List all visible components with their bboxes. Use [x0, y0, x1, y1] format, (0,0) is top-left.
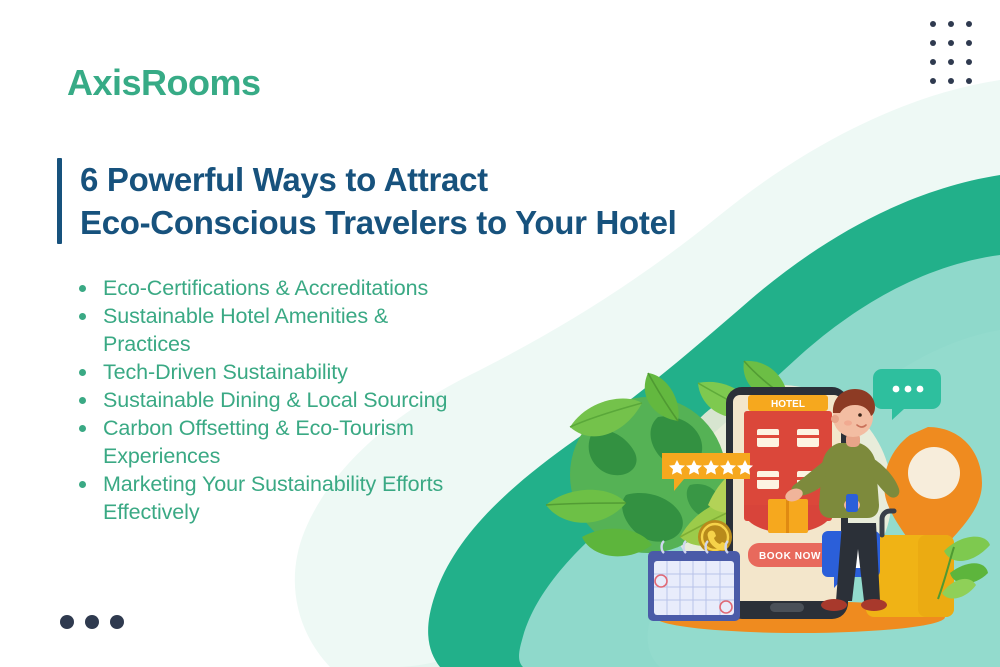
bottom-dot — [60, 615, 74, 629]
grid-dot — [930, 78, 936, 84]
topics-list: Eco-Certifications & Accreditations Sust… — [70, 274, 450, 526]
grid-dot — [966, 40, 972, 46]
bullet-dot-icon — [79, 397, 86, 404]
bullet-dot-icon — [79, 285, 86, 292]
list-item-label: Sustainable Hotel Amenities & Practices — [103, 304, 388, 356]
bottom-dot — [85, 615, 99, 629]
page-title: 6 Powerful Ways to Attract Eco-Conscious… — [57, 158, 677, 244]
hotel-sign: HOTEL — [748, 395, 828, 411]
list-item: Sustainable Hotel Amenities & Practices — [70, 302, 450, 358]
list-item: Sustainable Dining & Local Sourcing — [70, 386, 450, 414]
list-item-label: Sustainable Dining & Local Sourcing — [103, 388, 447, 412]
grid-dot — [948, 59, 954, 65]
list-item: Tech-Driven Sustainability — [70, 358, 450, 386]
bottom-dot — [110, 615, 124, 629]
page-title-line-2: Eco-Conscious Travelers to Your Hotel — [80, 201, 677, 244]
calendar-icon — [648, 541, 740, 621]
list-item-label: Eco-Certifications & Accreditations — [103, 276, 428, 300]
list-item: Marketing Your Sustainability Efforts Ef… — [70, 470, 450, 526]
dot-grid-decoration — [924, 14, 978, 90]
page-title-line-1: 6 Powerful Ways to Attract — [80, 158, 677, 201]
bullet-dot-icon — [79, 425, 86, 432]
title-accent-bar — [57, 158, 62, 244]
list-item-label: Marketing Your Sustainability Efforts Ef… — [103, 472, 443, 524]
chat-bubble-icon — [873, 369, 941, 420]
list-item-label: Carbon Offsetting & Eco-Tourism Experien… — [103, 416, 414, 468]
grid-dot — [948, 78, 954, 84]
grid-dot — [966, 21, 972, 27]
bullet-dot-icon — [79, 313, 86, 320]
list-item-label: Tech-Driven Sustainability — [103, 360, 348, 384]
grid-dot — [930, 21, 936, 27]
grid-dot — [948, 40, 954, 46]
grid-dot — [930, 59, 936, 65]
eco-travel-illustration: HOTEL — [530, 355, 990, 645]
bullet-dot-icon — [79, 369, 86, 376]
book-now-button: BOOK NOW — [748, 543, 832, 567]
brand-logo[interactable]: AxisRooms — [67, 62, 261, 104]
list-item: Eco-Certifications & Accreditations — [70, 274, 450, 302]
hotel-sign-label: HOTEL — [771, 399, 805, 410]
grid-dot — [966, 78, 972, 84]
poster-canvas: AxisRooms 6 Powerful Ways to Attract Eco… — [0, 0, 1000, 667]
grid-dot — [948, 21, 954, 27]
bullet-dot-icon — [79, 481, 86, 488]
grid-dot — [966, 59, 972, 65]
bottom-dots-decoration — [60, 615, 124, 629]
list-item: Carbon Offsetting & Eco-Tourism Experien… — [70, 414, 450, 470]
grid-dot — [930, 40, 936, 46]
book-now-label: BOOK NOW — [759, 551, 821, 562]
